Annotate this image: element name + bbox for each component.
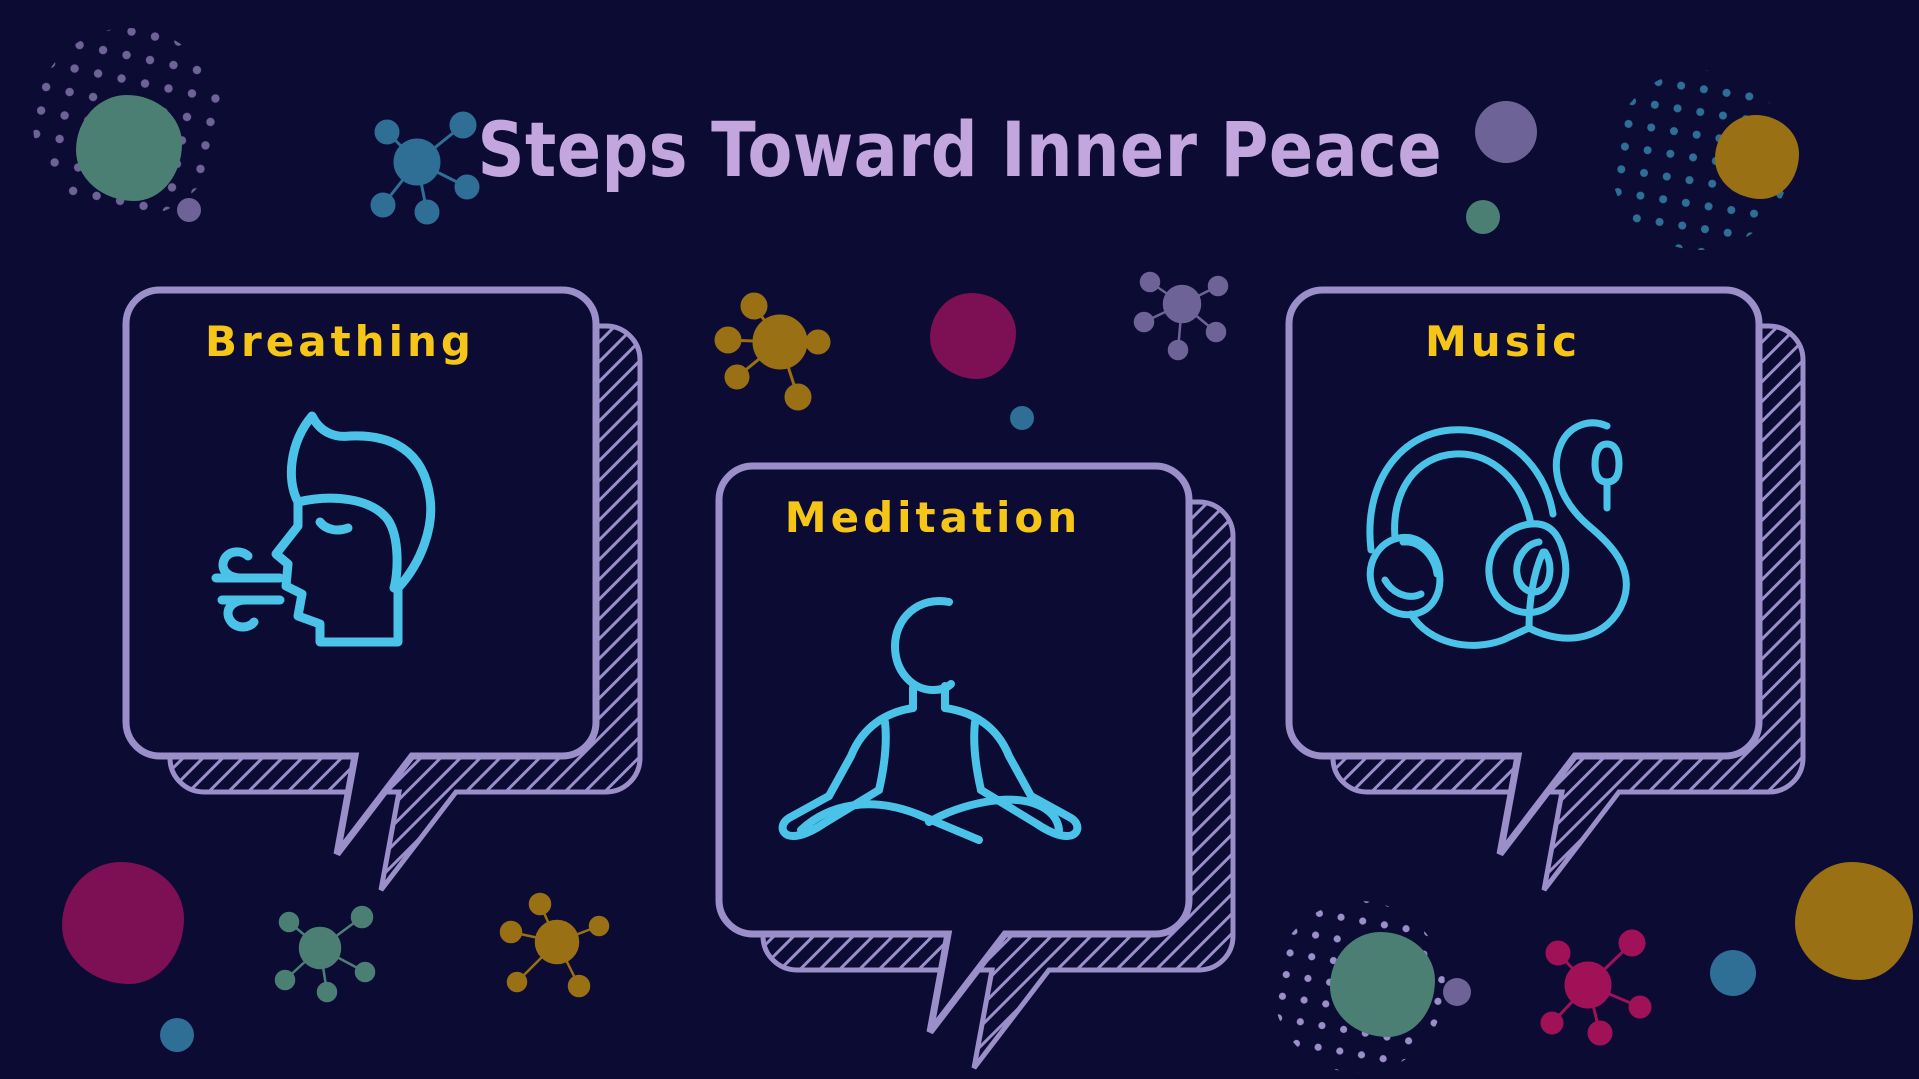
card-label-music: Music	[1213, 317, 1793, 366]
circle-purple-bottom	[1443, 978, 1471, 1006]
blob-magenta-center	[930, 293, 1016, 379]
circle-steel-bottom-left	[160, 1018, 194, 1052]
circle-steel-bottom-right	[1710, 950, 1756, 996]
headphones-icon	[1355, 422, 1655, 652]
blob-teal-bottom-right	[1330, 932, 1435, 1037]
blob-gold-bottom-right	[1795, 862, 1913, 980]
card-breathing[interactable]: Breathing	[92, 272, 672, 872]
blob-magenta-bottom-left	[62, 862, 184, 984]
infographic-canvas: Steps Toward Inner Peace Breathing	[0, 0, 1919, 1079]
card-label-breathing: Breathing	[50, 317, 630, 366]
circle-teal-small	[1466, 200, 1500, 234]
card-meditation[interactable]: Meditation	[685, 448, 1265, 1058]
circle-purple-small-left	[177, 198, 201, 222]
card-label-meditation: Meditation	[643, 493, 1223, 542]
circle-steel-mid	[1010, 406, 1034, 430]
molecule-gold-bottom	[495, 890, 610, 1005]
page-title-container: Steps Toward Inner Peace	[0, 112, 1919, 188]
molecule-teal-bottom	[265, 900, 375, 1010]
molecule-gold-left	[712, 292, 832, 412]
meditation-lotus-icon	[767, 590, 1087, 840]
card-music[interactable]: Music	[1255, 272, 1835, 872]
molecule-pink-bottom	[1530, 925, 1650, 1045]
page-title: Steps Toward Inner Peace	[477, 112, 1442, 188]
breathing-head-icon	[202, 402, 442, 652]
